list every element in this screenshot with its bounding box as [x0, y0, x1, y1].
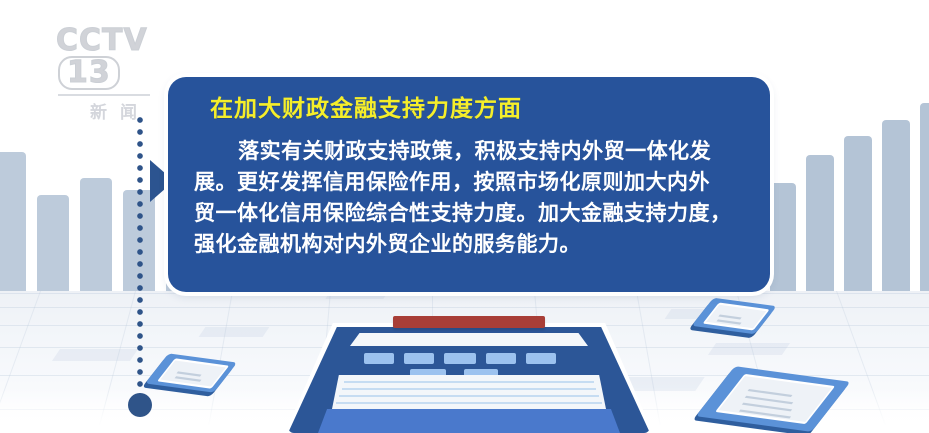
logo-cctv-text: CCTV — [56, 23, 148, 58]
document-text-line — [342, 388, 596, 390]
document-tile — [404, 353, 434, 364]
document-bookmark-icon — [393, 316, 545, 328]
dotted-vertical-line — [137, 117, 143, 405]
panel-body-line-1: 落实有关财政支持政策，积极支持内外贸一体化发 — [194, 136, 744, 167]
panel-title: 在加大财政金融支持力度方面 — [210, 95, 744, 124]
chart-bar-left-3 — [80, 178, 112, 291]
document-text-line — [339, 395, 599, 397]
chart-bar-right-3 — [844, 136, 872, 291]
document-footer-band — [318, 409, 620, 433]
broadcast-screenshot: CCTV13 新闻 在加大财政金融支持力度方面 落实有关财政支持政策，积极支持内… — [0, 0, 929, 433]
chart-bar-right-4 — [882, 120, 910, 291]
logo-divider — [58, 94, 150, 96]
chart-bar-right-5 — [920, 103, 929, 291]
tablet-device-icon — [150, 362, 226, 392]
chart-bar-right-1 — [770, 183, 796, 291]
document-text-line — [336, 402, 602, 404]
panel-body-line-1-text: 落实有关财政支持政策，积极支持内外贸一体化发 — [238, 139, 711, 163]
tablet-device-icon — [706, 378, 834, 428]
document-illustration — [288, 311, 650, 433]
chart-bar-left-1 — [0, 152, 26, 291]
logo-channel-number: 13 — [58, 56, 120, 90]
panel-body-line-4: 强化金融机构对内外贸企业的服务能力。 — [194, 229, 744, 260]
chart-bar-left-2 — [37, 195, 69, 291]
filled-circle-icon — [128, 393, 152, 417]
document-tile — [486, 353, 516, 364]
policy-highlight-panel: 在加大财政金融支持力度方面 落实有关财政支持政策，积极支持内外贸一体化发 展。更… — [168, 77, 770, 292]
panel-body-line-2: 展。更好发挥信用保险作用，按照市场化原则加大内外 — [194, 167, 744, 198]
chart-bar-right-2 — [806, 155, 834, 291]
panel-body-line-3: 贸一体化信用保险综合性支持力度。加大金融支持力度， — [194, 198, 744, 229]
document-tile — [444, 353, 476, 364]
document-top-strip — [350, 333, 588, 346]
panel-body: 落实有关财政支持政策，积极支持内外贸一体化发 展。更好发挥信用保险作用，按照市场… — [194, 136, 744, 260]
document-tile — [364, 353, 394, 364]
document-tile — [526, 353, 556, 364]
tablet-device-icon — [696, 306, 766, 334]
document-text-line — [344, 381, 594, 383]
